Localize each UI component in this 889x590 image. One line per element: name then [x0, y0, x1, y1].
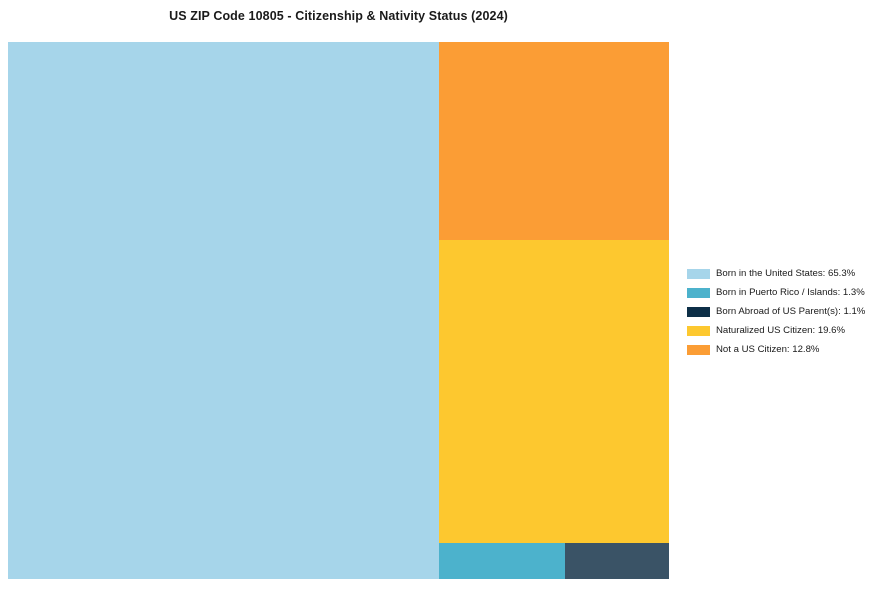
- legend-item-label: Born Abroad of US Parent(s): 1.1%: [716, 306, 865, 317]
- legend-swatch-icon: [687, 288, 710, 298]
- treemap-chart: US ZIP Code 10805 - Citizenship & Nativi…: [0, 0, 889, 590]
- treemap-tile-born-in-puerto-rico-islands[interactable]: [439, 543, 565, 579]
- treemap-tile-naturalized-us-citizen[interactable]: [439, 240, 669, 543]
- legend-item-born-abroad-of-us-parents[interactable]: Born Abroad of US Parent(s): 1.1%: [687, 302, 883, 321]
- legend-item-label: Born in the United States: 65.3%: [716, 268, 855, 279]
- legend-item-label: Naturalized US Citizen: 19.6%: [716, 325, 845, 336]
- legend-item-not-a-us-citizen[interactable]: Not a US Citizen: 12.8%: [687, 340, 883, 359]
- legend-swatch-icon: [687, 307, 710, 317]
- legend-swatch-icon: [687, 269, 710, 279]
- chart-legend: Born in the United States: 65.3% Born in…: [687, 264, 883, 359]
- treemap-plot-area: [8, 42, 669, 579]
- legend-item-label: Not a US Citizen: 12.8%: [716, 344, 819, 355]
- legend-item-naturalized-us-citizen[interactable]: Naturalized US Citizen: 19.6%: [687, 321, 883, 340]
- legend-swatch-icon: [687, 345, 710, 355]
- treemap-tile-not-a-us-citizen[interactable]: [439, 42, 669, 240]
- treemap-tile-born-in-the-united-states[interactable]: [8, 42, 439, 579]
- legend-item-born-in-puerto-rico-islands[interactable]: Born in Puerto Rico / Islands: 1.3%: [687, 283, 883, 302]
- legend-item-born-in-the-united-states[interactable]: Born in the United States: 65.3%: [687, 264, 883, 283]
- treemap-tile-born-abroad-of-us-parents[interactable]: [565, 543, 669, 579]
- chart-title: US ZIP Code 10805 - Citizenship & Nativi…: [0, 9, 677, 23]
- legend-swatch-icon: [687, 326, 710, 336]
- legend-item-label: Born in Puerto Rico / Islands: 1.3%: [716, 287, 865, 298]
